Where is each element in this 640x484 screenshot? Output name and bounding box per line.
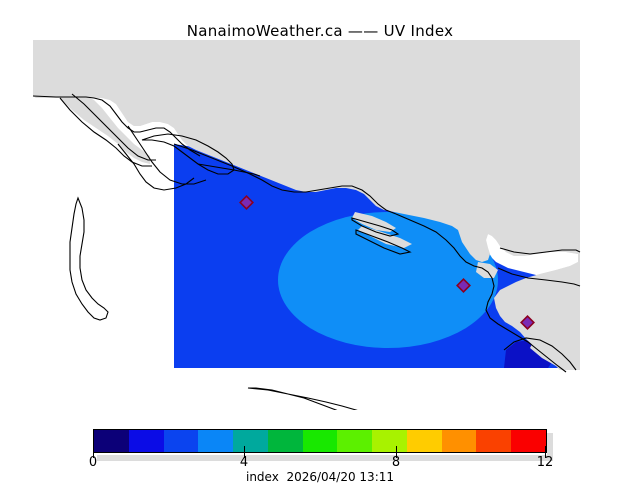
colorbar-shadow-bottom — [97, 455, 549, 461]
colorbar-segment-0 — [94, 430, 129, 452]
colorbar-segment-8 — [372, 430, 407, 452]
uv-index-map-page: NanaimoWeather.ca —— UV Index — [0, 0, 640, 480]
map-canvas[interactable] — [0, 40, 640, 410]
colorbar-tick-label-4: 4 — [240, 455, 248, 470]
page-title: NanaimoWeather.ca —— UV Index — [0, 22, 640, 40]
colorbar-segment-1 — [129, 430, 164, 452]
colorbar-tick-label-8: 8 — [392, 455, 400, 470]
colorbar-segment-4 — [233, 430, 268, 452]
colorbar-tick-label-0: 0 — [89, 455, 97, 470]
colorbar-segment-9 — [407, 430, 442, 452]
colorbar-segment-10 — [442, 430, 477, 452]
colorbar-segment-2 — [164, 430, 199, 452]
colorbar-segment-5 — [268, 430, 303, 452]
colorbar-segment-12 — [511, 430, 546, 452]
colorbar-tick-label-12: 12 — [537, 455, 554, 470]
colorbar-segment-7 — [337, 430, 372, 452]
colorbar: 04812 index 2026/04/20 13:11 — [0, 424, 640, 480]
colorbar-caption: index 2026/04/20 13:11 — [0, 470, 640, 484]
colorbar-segment-6 — [303, 430, 338, 452]
map-graphic[interactable] — [0, 40, 640, 410]
colorbar-segment-3 — [198, 430, 233, 452]
colorbar-segment-11 — [476, 430, 511, 452]
colorbar-strip[interactable] — [93, 429, 547, 453]
